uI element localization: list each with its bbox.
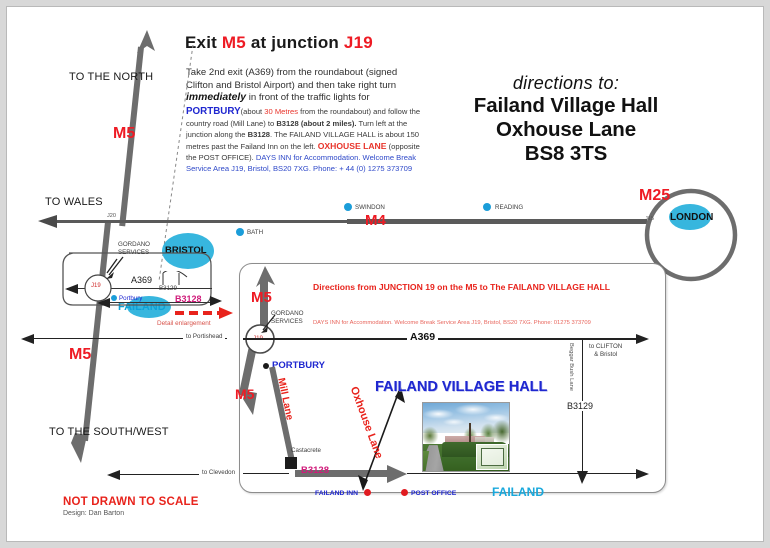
detail-bottom-east-arrowhead: [635, 468, 651, 480]
m5-label-north: M5: [113, 125, 135, 143]
poster-frame: Exit M5 at junction J19 Take 2nd exit (A…: [6, 6, 764, 542]
instr-b3128-2: B3128: [248, 130, 270, 139]
bath-dot: [236, 228, 244, 236]
label-post-office: POST OFFICE: [411, 490, 456, 497]
m25-label: M25: [639, 187, 670, 205]
destination-title-block: directions to: Failand Village Hall Oxho…: [459, 73, 673, 166]
detail-gordano-pointer: [259, 313, 279, 335]
label-b3128-overview: B3128: [175, 294, 202, 304]
detail-enlargement-arrow: [173, 305, 235, 321]
directions-paragraph: Take 2nd exit (A369) from the roundabout…: [186, 67, 451, 175]
instr-daysinn-1: DAYS INN for Accommodation. Welcome Brea…: [256, 153, 416, 162]
to-clifton-line-1: to CLIFTON: [589, 343, 622, 351]
m4-corridor: [347, 219, 647, 224]
page-title: Exit M5 at junction J19: [185, 33, 373, 53]
label-failand-inn: FAILAND INN: [315, 490, 358, 497]
label-london: LONDON: [670, 212, 713, 223]
title-kicker: directions to:: [459, 73, 673, 94]
failand-inn-marker: [364, 489, 371, 496]
instr-dist-pre: (about: [241, 107, 265, 116]
title-venue: Failand Village Hall: [459, 94, 673, 118]
m5-label-south: M5: [69, 346, 91, 364]
instr-line-2: Clifton and Bristol Airport) and then ta…: [186, 80, 451, 93]
gordano-line-1: GORDANO: [118, 241, 150, 249]
title-postcode: BS8 3TS: [459, 142, 673, 166]
m5-north-arrowhead: [125, 29, 159, 59]
detail-label-a369: A369: [407, 331, 438, 343]
headline-junction: J19: [344, 33, 373, 52]
detail-label-failand: FAILAND: [492, 485, 544, 499]
instr-line-5-end: Turn left at the: [357, 119, 408, 128]
photo-inset-sign-panel: [481, 448, 504, 466]
instr-b3128-bold: B3128 (about 2 miles).: [276, 119, 356, 128]
castacrete-building: [285, 457, 297, 469]
instr-daysinn-2: Service Area J19, Bristol, BS20 7XG. Pho…: [186, 163, 451, 174]
a369-west-arrowhead: [65, 283, 81, 295]
headline-mid: at junction: [246, 33, 344, 52]
detail-label-b3128: B3128: [301, 465, 329, 476]
label-beggar-bush-lane: Beggar Bush Lane: [568, 343, 574, 391]
label-detail-enlargement: Detail enlargement: [157, 320, 211, 327]
detail-label-b3129: B3129: [565, 401, 595, 411]
detail-m5-label-left: M5: [235, 386, 254, 402]
instr-dist-post: from the roundabout) and follow the: [298, 107, 420, 116]
photo-inset-signpost: [476, 444, 508, 470]
instr-oxhouse: OXHOUSE LANE: [318, 141, 387, 151]
clevedon-arrowhead: [107, 469, 123, 481]
label-to-portishead: to Portishead: [183, 333, 225, 340]
instr-line-7: metres past the Failand Inn on the left.: [186, 142, 318, 151]
swindon-dot: [344, 203, 352, 211]
label-swindon: SWINDON: [355, 204, 385, 211]
label-castacrete: Castacrete: [291, 447, 321, 454]
design-credit: Design: Dan Barton: [63, 510, 124, 517]
detail-bottom-road: [407, 473, 643, 474]
wales-arrowhead: [37, 213, 61, 231]
reading-dot: [483, 203, 491, 211]
instr-line-6-end: . The FAILAND VILLAGE HALL is about 150: [270, 130, 419, 139]
poster-canvas: Exit M5 at junction J19 Take 2nd exit (A…: [0, 0, 770, 548]
to-clifton-line-2: & Bristol: [589, 351, 622, 359]
instr-line-5: country road (Mill Lane) to: [186, 119, 276, 128]
detail-a369-east-arrowhead: [635, 333, 651, 345]
instr-line-3: in front of the traffic lights for: [246, 92, 370, 103]
label-j20: J20: [107, 213, 116, 219]
portishead-arrowhead: [21, 333, 37, 345]
not-to-scale-notice: NOT DRAWN TO SCALE: [63, 496, 199, 508]
label-to-the-north: TO THE NORTH: [69, 71, 153, 83]
title-street: Oxhouse Lane: [459, 118, 673, 142]
label-failand-village-hall: FAILAND VILLAGE HALL: [375, 379, 547, 395]
post-office-marker: [401, 489, 408, 496]
portbury-marker: [263, 363, 269, 369]
detail-m5-arrowhead-north: [251, 265, 279, 291]
instr-dist-value: 30 Metres: [264, 107, 298, 116]
gordano-pointer-arrow: [103, 255, 127, 281]
label-reading: READING: [495, 204, 523, 211]
instr-line-1: Take 2nd exit (A369) from the roundabout…: [186, 67, 451, 80]
instr-line-7-end: (opposite: [386, 142, 419, 151]
headline-motorway: M5: [222, 33, 246, 52]
label-to-clifton: to CLIFTON & Bristol: [589, 343, 622, 359]
label-a369-overview: A369: [131, 275, 152, 285]
label-to-clevedon: to Clevedon: [199, 469, 238, 476]
b3128-west-line-detail: [243, 473, 289, 474]
b3128-west-arrowhead: [97, 297, 113, 309]
detail-title: Directions from JUNCTION 19 on the M5 to…: [313, 282, 610, 292]
label-to-wales: TO WALES: [45, 196, 103, 208]
label-to-south-west: TO THE SOUTH/WEST: [49, 426, 169, 438]
label-bath-text: BATH: [247, 229, 263, 236]
village-hall-photo: [422, 402, 510, 472]
beggar-bush-south-arrowhead: [576, 469, 590, 485]
label-j19-overview: J19: [91, 283, 101, 289]
detail-label-portbury: PORTBURY: [272, 360, 325, 371]
detail-daysinn-note: DAYS INN for Accommodation. Welcome Brea…: [313, 320, 591, 326]
detail-m5-label-top: M5: [251, 289, 272, 306]
m4-label: M4: [365, 212, 386, 229]
label-portbury-overview: Portbury: [119, 295, 142, 302]
label-j15: J15: [645, 216, 654, 222]
m4-wales-road: [53, 220, 353, 223]
